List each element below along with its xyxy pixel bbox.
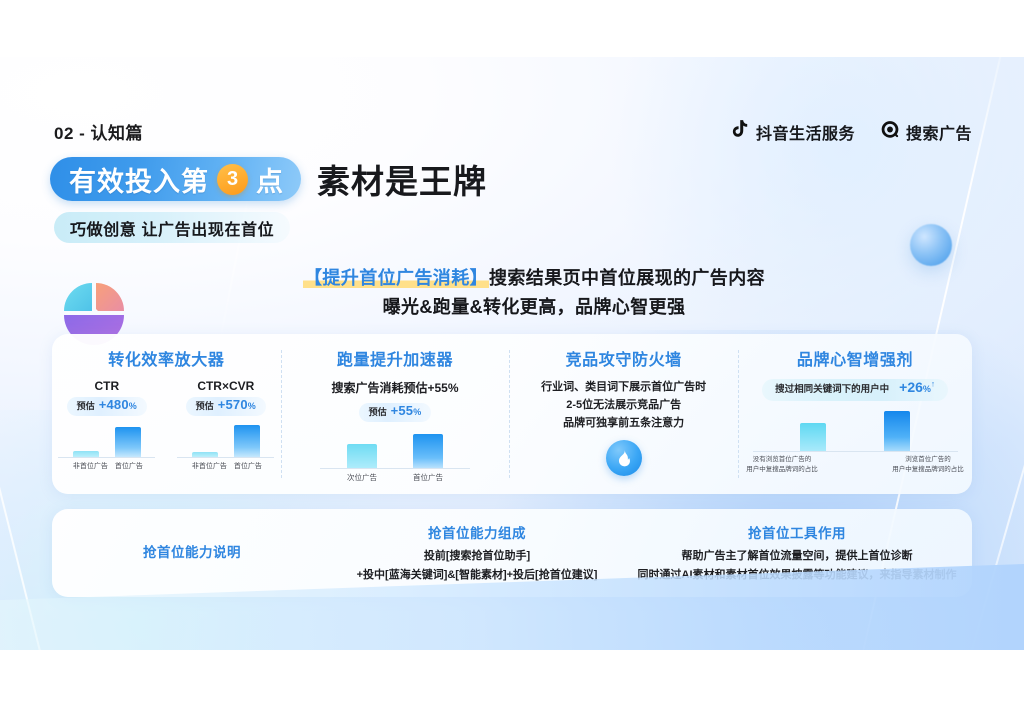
paragraph-line: 2-5位无法展示竞品广告 bbox=[541, 397, 706, 415]
metric-name: CTR×CVR bbox=[197, 379, 254, 393]
title-badge-number: 3 bbox=[217, 164, 248, 195]
feature-card: 转化效率放大器 CTR 预估 +480% 非首位广告 首位广告 bbox=[52, 334, 972, 494]
bar-label: 首位广告 bbox=[115, 461, 141, 471]
feature-column-spend: 跑量提升加速器 搜索广告消耗预估+55% 预估 +55% 次位广告 首位广告 bbox=[281, 334, 510, 494]
fire-icon bbox=[606, 440, 642, 476]
estimate-number: +55 bbox=[391, 403, 414, 418]
summary-title: 抢首位工具作用 bbox=[748, 522, 846, 542]
feature-column-firewall: 竞品攻守防火墙 行业词、类目词下展示首位广告时 2-5位无法展示竞品广告 品牌可… bbox=[509, 334, 738, 494]
slide-canvas: 02 - 认知篇 抖音生活服务 搜索广告 有效投入第 3 点 素材是王牌 巧做创… bbox=[0, 57, 1024, 650]
summary-line: +投中[蓝海关键词]&[智能素材]+投后[抢首位建议] bbox=[357, 566, 598, 584]
metric-name: CTR bbox=[94, 379, 119, 393]
estimate-pill: 预估 +55% bbox=[359, 403, 432, 422]
bar-chart bbox=[192, 423, 260, 457]
bar-label-group: 非首位广告 首位广告 bbox=[192, 461, 260, 471]
bar-top-position bbox=[413, 434, 443, 468]
estimate-unit: % bbox=[248, 401, 256, 411]
kpi-number: +26 bbox=[899, 379, 923, 395]
estimate-label: 预估 bbox=[369, 405, 387, 418]
bar-label: 没有浏览首位广告的用户中复搜品牌词的占比 bbox=[738, 455, 826, 475]
bar-no-view bbox=[800, 423, 826, 451]
bar-top bbox=[234, 425, 260, 457]
summary-title: 抢首位能力说明 bbox=[143, 541, 241, 561]
search-ads-logo-icon bbox=[881, 120, 899, 144]
kpi-label: 搜过相同关键词下的用户中 bbox=[775, 381, 889, 395]
column-title: 竞品攻守防火墙 bbox=[566, 346, 682, 370]
estimate-value: +570% bbox=[218, 397, 256, 412]
brand-search-ads-label: 搜索广告 bbox=[906, 120, 972, 144]
bar-label: 首位广告 bbox=[234, 461, 260, 471]
paragraph-line: 品牌可独享前五条注意力 bbox=[541, 415, 706, 433]
tiktok-logo-icon bbox=[731, 119, 749, 144]
chart-axis bbox=[177, 457, 274, 458]
lead-rest: 搜索结果页中首位展现的广告内容 bbox=[489, 268, 765, 288]
summary-line: 帮助广告主了解首位流量空间，提供上首位诊断 bbox=[682, 547, 913, 565]
estimate-label: 预估 bbox=[77, 399, 95, 412]
title-row: 有效投入第 3 点 素材是王牌 bbox=[50, 155, 487, 203]
bar-label: 首位广告 bbox=[413, 472, 443, 483]
estimate-pill: 预估 +480% bbox=[67, 397, 147, 416]
summary-line: 投前[搜索抢首位助手] bbox=[424, 547, 530, 565]
subtitle-pill: 巧做创意 让广告出现在首位 bbox=[54, 212, 290, 243]
subtitle-label: 巧做创意 让广告出现在首位 bbox=[70, 216, 274, 240]
chart-axis bbox=[753, 451, 958, 452]
chart-axis bbox=[58, 457, 155, 458]
bar-chart bbox=[800, 409, 910, 451]
summary-card: 抢首位能力说明 抢首位能力组成 投前[搜索抢首位助手] +投中[蓝海关键词]&[… bbox=[52, 509, 972, 597]
bar-chart bbox=[347, 430, 443, 468]
lead-statement: 【提升首位广告消耗】搜索结果页中首位展现的广告内容 曝光&跑量&转化更高，品牌心… bbox=[224, 264, 844, 322]
column-title: 品牌心智增强剂 bbox=[797, 346, 913, 370]
estimate-unit: % bbox=[129, 401, 137, 411]
chart-axis bbox=[320, 468, 470, 469]
section-kicker: 02 - 认知篇 bbox=[54, 119, 143, 144]
summary-column-tooling: 抢首位工具作用 帮助广告主了解首位流量空间，提供上首位诊断 同时通过AI素材和素… bbox=[622, 509, 972, 597]
metric-ctr: CTR 预估 +480% 非首位广告 首位广告 bbox=[58, 379, 155, 471]
estimate-value: +480% bbox=[99, 397, 137, 412]
summary-column-composition: 抢首位能力组成 投前[搜索抢首位助手] +投中[蓝海关键词]&[智能素材]+投后… bbox=[332, 509, 622, 597]
estimate-pill: 预估 +570% bbox=[186, 397, 266, 416]
lead-line-2: 曝光&跑量&转化更高，品牌心智更强 bbox=[224, 293, 844, 322]
estimate-unit: % bbox=[413, 407, 421, 417]
metric-group: CTR 预估 +480% 非首位广告 首位广告 bbox=[58, 379, 274, 471]
feature-column-conversion: 转化效率放大器 CTR 预估 +480% 非首位广告 首位广告 bbox=[52, 334, 281, 494]
estimate-number: +480 bbox=[99, 397, 129, 412]
bar-label-group: 没有浏览首位广告的用户中复搜品牌词的占比 浏览首位广告的用户中复搜品牌词的占比 bbox=[738, 455, 972, 475]
bar-label: 非首位广告 bbox=[192, 461, 218, 471]
bar-label: 非首位广告 bbox=[73, 461, 99, 471]
metric-ctr-cvr: CTR×CVR 预估 +570% 非首位广告 首位广告 bbox=[177, 379, 274, 471]
brand-tiktok-life-service: 抖音生活服务 bbox=[731, 119, 855, 144]
column-note: 搜索广告消耗预估+55% bbox=[331, 379, 458, 396]
bar-top bbox=[115, 427, 141, 457]
summary-title: 抢首位能力组成 bbox=[428, 522, 526, 542]
lead-highlight: 【提升首位广告消耗】 bbox=[303, 268, 489, 288]
page-title: 素材是王牌 bbox=[317, 155, 487, 203]
estimate-label: 预估 bbox=[196, 399, 214, 412]
bar-label: 浏览首位广告的用户中复搜品牌词的占比 bbox=[884, 455, 972, 475]
kpi-value: +26%↑ bbox=[899, 379, 935, 395]
decorative-sphere bbox=[910, 224, 952, 266]
brand-bar: 抖音生活服务 搜索广告 bbox=[731, 119, 972, 144]
kpi-unit: % bbox=[923, 384, 931, 394]
brand-tiktok-label: 抖音生活服务 bbox=[756, 120, 855, 144]
column-title: 转化效率放大器 bbox=[108, 346, 224, 370]
bar-second-position bbox=[347, 444, 377, 468]
bar-label-group: 次位广告 首位广告 bbox=[347, 472, 443, 483]
title-badge-prefix: 有效投入第 bbox=[69, 160, 209, 199]
brand-search-ads: 搜索广告 bbox=[881, 120, 972, 144]
estimate-value: +55% bbox=[391, 403, 422, 418]
bar-label-group: 非首位广告 首位广告 bbox=[73, 461, 141, 471]
summary-line: 同时通过AI素材和素材首位效果披露等功能建议，来指导素材制作 bbox=[638, 566, 957, 584]
bar-label: 次位广告 bbox=[347, 472, 377, 483]
paragraph-line: 行业词、类目词下展示首位广告时 bbox=[541, 379, 706, 397]
column-paragraph: 行业词、类目词下展示首位广告时 2-5位无法展示竞品广告 品牌可独享前五条注意力 bbox=[541, 379, 706, 432]
bar-chart bbox=[73, 423, 141, 457]
kpi-pill: 搜过相同关键词下的用户中 +26%↑ bbox=[762, 379, 948, 401]
title-badge: 有效投入第 3 点 bbox=[50, 157, 301, 201]
column-title: 跑量提升加速器 bbox=[337, 346, 453, 370]
kpi-arrow-icon: ↑ bbox=[931, 379, 935, 388]
title-badge-suffix: 点 bbox=[256, 160, 284, 199]
summary-column-description: 抢首位能力说明 bbox=[52, 509, 332, 597]
feature-column-brand-mind: 品牌心智增强剂 搜过相同关键词下的用户中 +26%↑ 没有浏览首位广告的用户中复… bbox=[738, 334, 972, 494]
bar-viewed bbox=[884, 411, 910, 451]
estimate-number: +570 bbox=[218, 397, 248, 412]
